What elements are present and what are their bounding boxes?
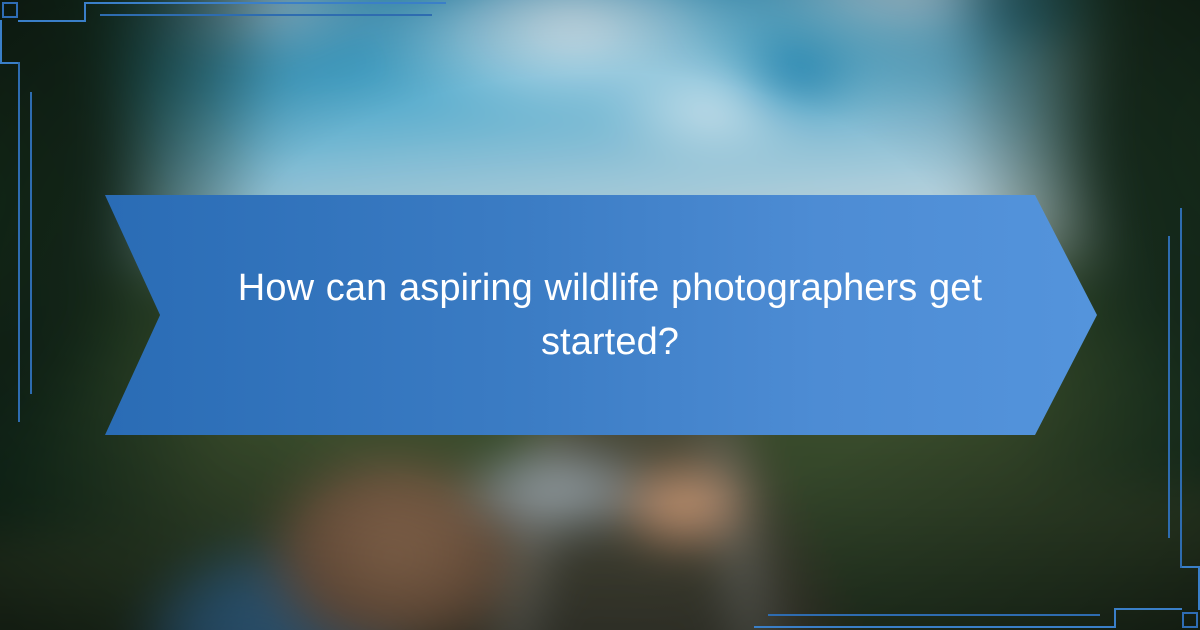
corner-drop-outer [18,62,20,422]
corner-rule-outer [754,626,1114,628]
corner-drop-outer [1180,208,1182,568]
corner-edge-vertical [0,20,2,64]
corner-rule-outer [86,2,446,4]
corner-bracket-horizontal [1114,608,1182,610]
corner-bracket-vertical [1114,608,1116,628]
corner-square-icon [1182,612,1198,628]
corner-rule-inner [768,614,1100,616]
corner-edge-horizontal [1180,566,1200,568]
headline-text: How can aspiring wildlife photographers … [215,261,1005,369]
corner-drop-inner [1168,236,1170,538]
corner-square-icon [2,2,18,18]
corner-drop-inner [30,92,32,394]
corner-bracket-horizontal [18,20,86,22]
corner-bracket-vertical [84,2,86,22]
question-card: How can aspiring wildlife photographers … [0,0,1200,630]
corner-rule-inner [100,14,432,16]
corner-edge-horizontal [0,62,20,64]
headline-banner: How can aspiring wildlife photographers … [105,195,1097,435]
